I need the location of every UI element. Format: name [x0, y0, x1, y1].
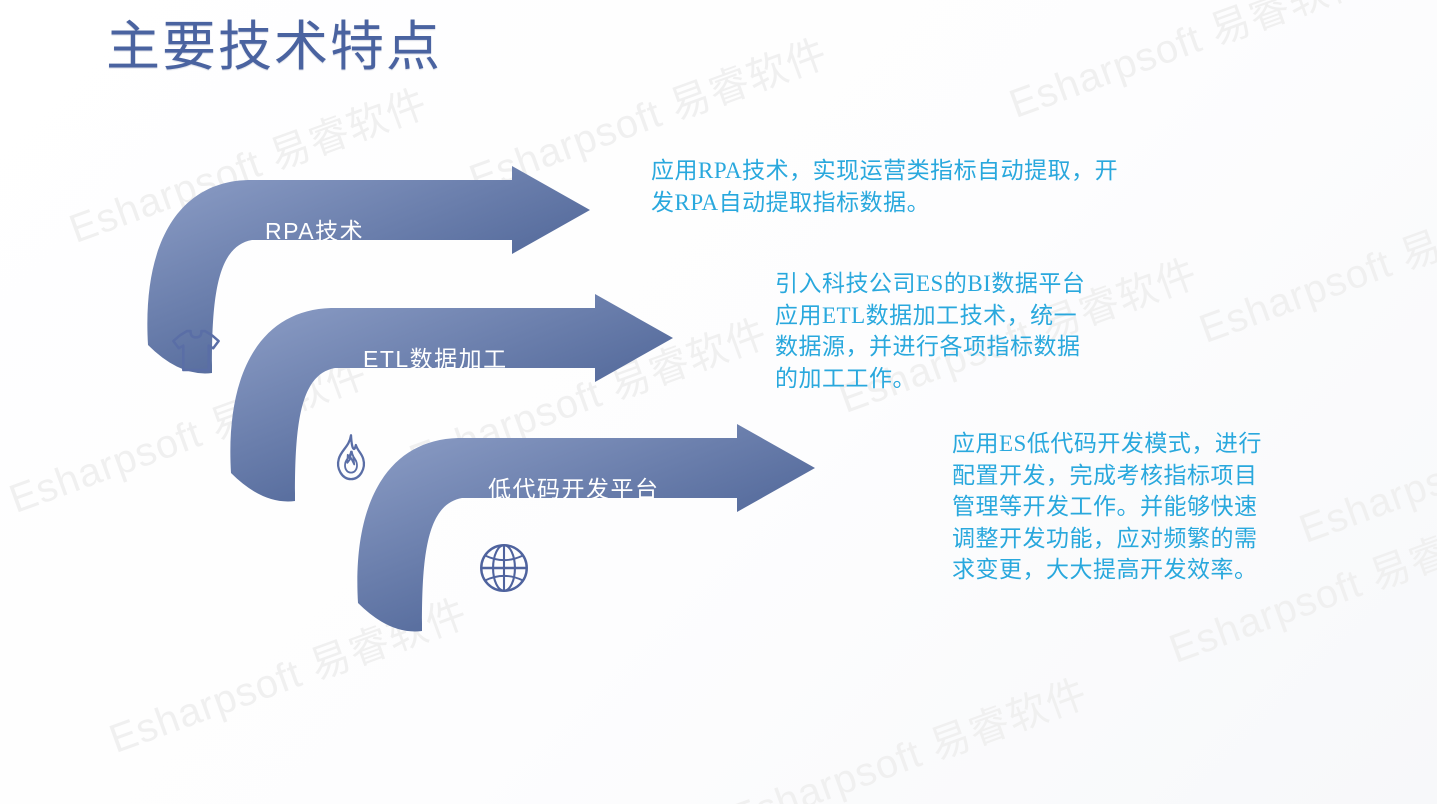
arrow-label-rpa: RPA技术	[265, 212, 364, 246]
flame-icon	[325, 432, 377, 484]
arrow-label-lowcode: 低代码开发平台	[488, 470, 660, 504]
arrow-group: RPA技术ETL数据加工低代码开发平台	[0, 0, 1437, 804]
desc-etl: 引入科技公司ES的BI数据平台 应用ETL数据加工技术，统一 数据源，并进行各项…	[775, 268, 1245, 394]
tshirt-icon	[167, 322, 225, 380]
arrow-shape	[357, 424, 815, 631]
page-title: 主要技术特点	[106, 16, 442, 78]
desc-lowcode: 应用ES低代码开发模式，进行 配置开发，完成考核指标项目 管理等开发工作。并能够…	[952, 428, 1332, 586]
desc-rpa: 应用RPA技术，实现运营类指标自动提取，开 发RPA自动提取指标数据。	[651, 155, 1221, 218]
globe-icon	[476, 540, 532, 596]
process-arrow-lowcode[interactable]	[340, 436, 815, 636]
slide-canvas: Esharpsoft 易睿软件Esharpsoft 易睿软件Esharpsoft…	[0, 0, 1437, 804]
arrow-label-etl: ETL数据加工	[363, 340, 508, 374]
